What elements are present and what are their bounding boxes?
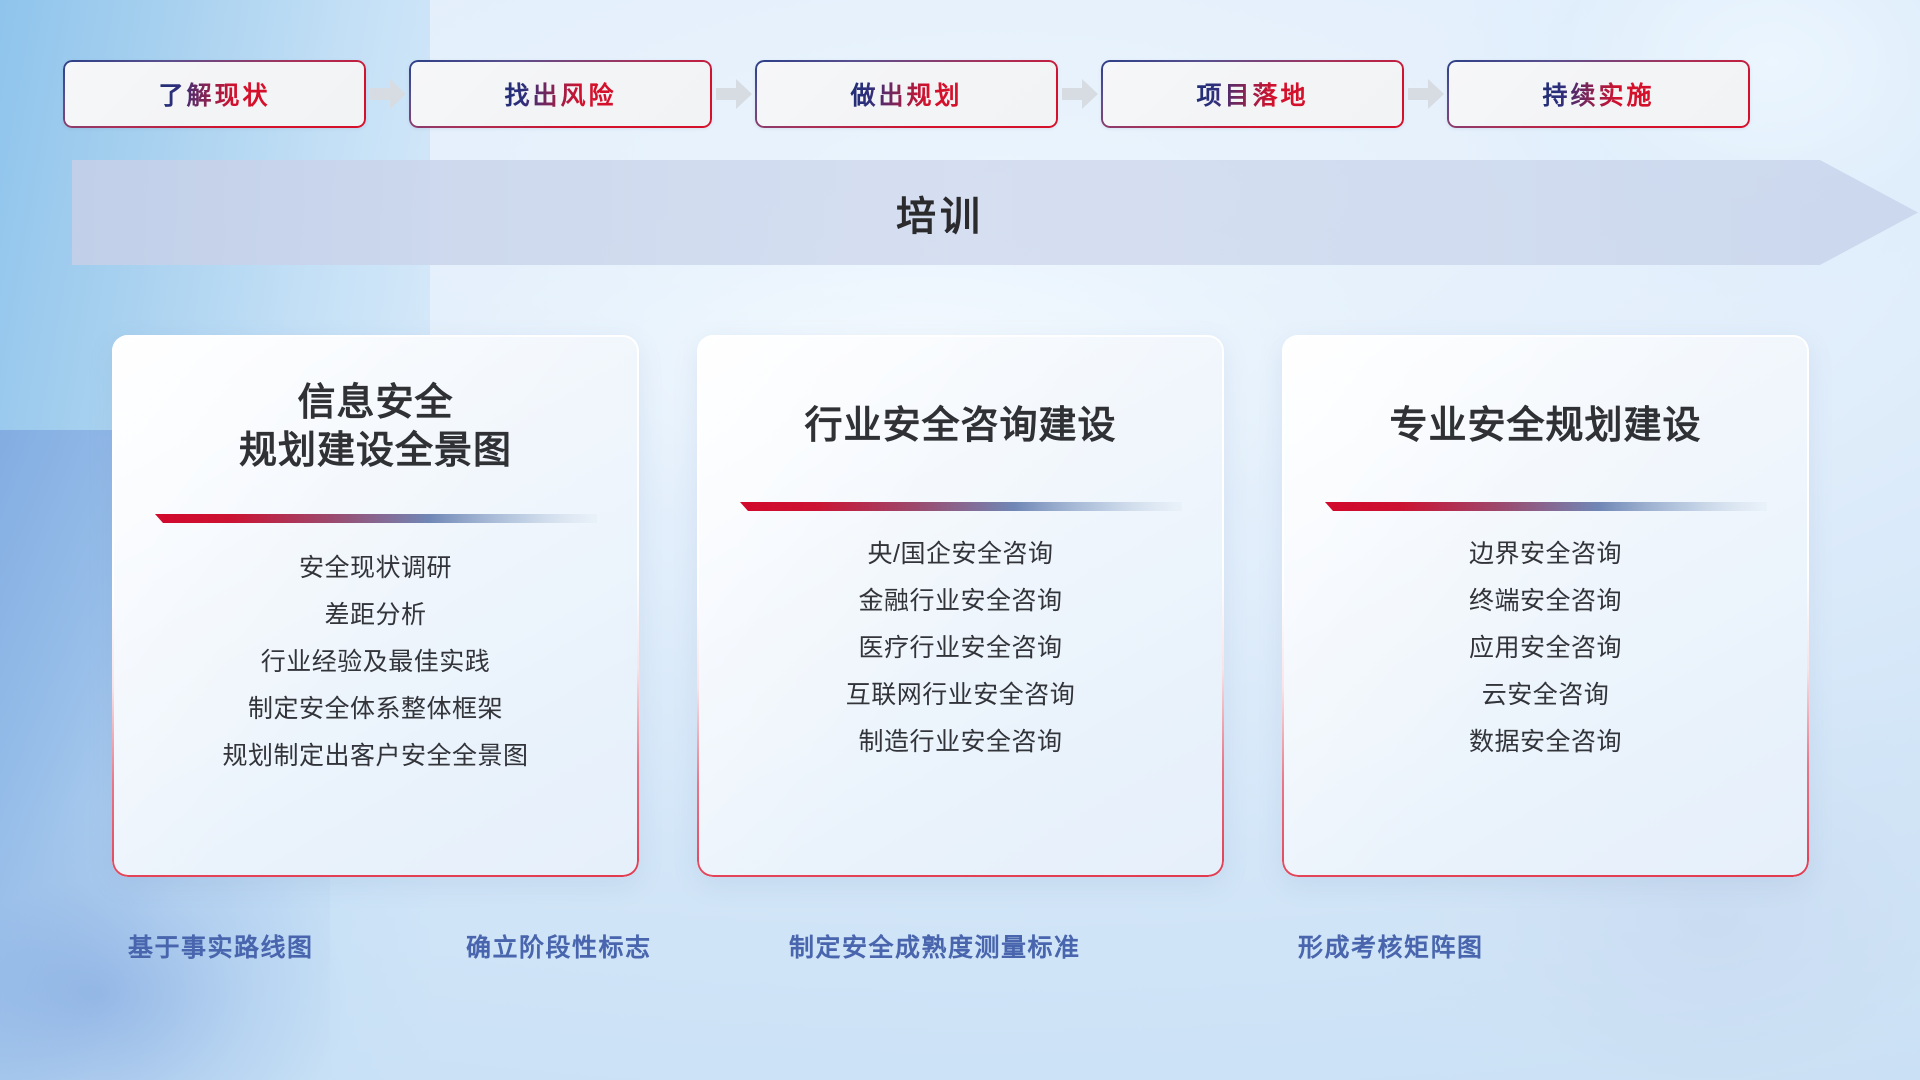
list-item: 终端安全咨询	[1282, 578, 1809, 625]
card-title-line: 信息安全	[146, 380, 605, 428]
card-group: 信息安全 规划建设全景图	[0, 335, 1920, 880]
card-item-list: 安全现状调研 差距分析 行业经验及最佳实践 制定安全体系整体框架 规划制定出客户…	[112, 519, 639, 780]
list-item: 数据安全咨询	[1282, 719, 1809, 766]
footnote-row: 基于事实路线图 确立阶段性标志 制定安全成熟度测量标准 形成考核矩阵图	[0, 928, 1920, 988]
card-divider	[1325, 498, 1767, 507]
card-divider	[740, 498, 1182, 507]
card-information-security-blueprint[interactable]: 信息安全 规划建设全景图	[112, 335, 639, 877]
footnote-label: 基于事实路线图	[128, 928, 314, 964]
step-label: 做出规划	[850, 76, 962, 112]
card-title: 专业安全规划建设	[1282, 335, 1809, 451]
slide-canvas: 了解现状 找出风险 做出规划 项目落地	[0, 0, 1920, 1080]
chevron-right-arrow-icon	[366, 60, 409, 128]
chevron-right-arrow-icon	[1404, 60, 1447, 128]
card-title: 行业安全咨询建设	[697, 335, 1224, 451]
card-item-list: 央/国企安全咨询 金融行业安全咨询 医疗行业安全咨询 互联网行业安全咨询 制造行…	[697, 507, 1224, 766]
footnote-label: 制定安全成熟度测量标准	[789, 928, 1081, 964]
card-professional-security-planning[interactable]: 专业安全规划建设	[1282, 335, 1809, 877]
list-item: 差距分析	[112, 592, 639, 639]
card-title: 信息安全 规划建设全景图	[112, 335, 639, 476]
banner-title: 培训	[0, 160, 1880, 265]
list-item: 制造行业安全咨询	[697, 719, 1224, 766]
list-item: 互联网行业安全咨询	[697, 672, 1224, 719]
list-item: 央/国企安全咨询	[697, 531, 1224, 578]
step-label: 项目落地	[1196, 76, 1308, 112]
chevron-right-arrow-icon	[712, 60, 755, 128]
list-item: 行业经验及最佳实践	[112, 639, 639, 686]
card-title-line: 专业安全规划建设	[1316, 403, 1775, 451]
list-item: 云安全咨询	[1282, 672, 1809, 719]
step-box-2[interactable]: 找出风险	[409, 60, 712, 128]
step-label: 了解现状	[158, 76, 270, 112]
card-item-list: 边界安全咨询 终端安全咨询 应用安全咨询 云安全咨询 数据安全咨询	[1282, 507, 1809, 766]
card-title-line: 规划建设全景图	[146, 428, 605, 476]
list-item: 边界安全咨询	[1282, 531, 1809, 578]
list-item: 应用安全咨询	[1282, 625, 1809, 672]
step-box-5[interactable]: 持续实施	[1447, 60, 1750, 128]
step-box-1[interactable]: 了解现状	[63, 60, 366, 128]
footnote-label: 形成考核矩阵图	[1298, 928, 1484, 964]
list-item: 规划制定出客户安全全景图	[112, 733, 639, 780]
training-banner: 培训	[0, 160, 1920, 265]
step-label: 持续实施	[1542, 76, 1654, 112]
step-box-3[interactable]: 做出规划	[755, 60, 1058, 128]
card-industry-security-consulting[interactable]: 行业安全咨询建设	[697, 335, 1224, 877]
card-title-line: 行业安全咨询建设	[731, 403, 1190, 451]
chevron-right-arrow-icon	[1058, 60, 1101, 128]
footnote-label: 确立阶段性标志	[466, 928, 652, 964]
step-box-4[interactable]: 项目落地	[1101, 60, 1404, 128]
list-item: 金融行业安全咨询	[697, 578, 1224, 625]
list-item: 医疗行业安全咨询	[697, 625, 1224, 672]
process-step-flow: 了解现状 找出风险 做出规划 项目落地	[63, 60, 1863, 128]
list-item: 安全现状调研	[112, 545, 639, 592]
step-label: 找出风险	[504, 76, 616, 112]
card-divider	[155, 510, 597, 519]
list-item: 制定安全体系整体框架	[112, 686, 639, 733]
